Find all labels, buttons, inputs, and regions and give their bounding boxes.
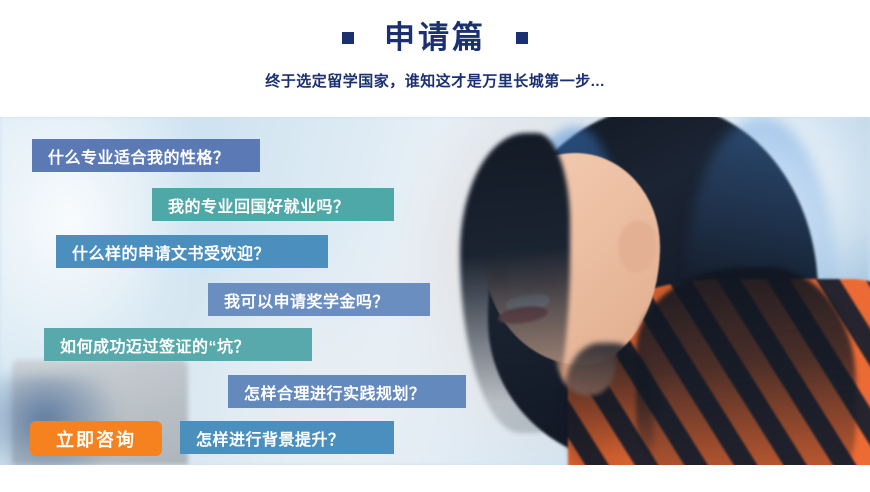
page-subtitle: 终于选定留学国家，谁知这才是万里长城第一步... bbox=[0, 70, 870, 91]
footer-spacer bbox=[0, 465, 870, 492]
hair-over-shoulder bbox=[636, 267, 856, 465]
title-row: 申请篇 bbox=[0, 22, 870, 53]
question-tag-label: 如何成功迈过签证的“坑？ bbox=[60, 333, 250, 357]
hair-strand-tip bbox=[564, 343, 654, 465]
page-title: 申请篇 bbox=[384, 22, 486, 53]
question-tag[interactable]: 什么专业适合我的性格？ bbox=[32, 139, 260, 172]
student-portrait bbox=[436, 117, 870, 465]
consult-now-button[interactable]: 立即咨询 bbox=[30, 421, 162, 456]
question-tag-label: 什么样的申请文书受欢迎？ bbox=[72, 240, 270, 264]
question-tag[interactable]: 如何成功迈过签证的“坑？ bbox=[44, 328, 312, 361]
question-tag-label: 我的专业回国好就业吗？ bbox=[168, 193, 350, 217]
header: 申请篇 终于选定留学国家，谁知这才是万里长城第一步... bbox=[0, 0, 870, 117]
question-tag-label: 我可以申请奖学金吗？ bbox=[224, 288, 389, 312]
square-bullet-icon-left bbox=[342, 32, 354, 44]
question-tag[interactable]: 我可以申请奖学金吗？ bbox=[208, 283, 430, 316]
hair-front-strands bbox=[460, 133, 570, 433]
ear bbox=[618, 221, 656, 273]
question-tag[interactable]: 怎样合理进行实践规划？ bbox=[228, 375, 466, 408]
promo-banner: 申请篇 终于选定留学国家，谁知这才是万里长城第一步... bbox=[0, 0, 870, 492]
question-tag-label: 怎样进行背景提升？ bbox=[196, 426, 345, 450]
question-tag[interactable]: 我的专业回国好就业吗？ bbox=[152, 188, 394, 221]
question-tag[interactable]: 什么样的申请文书受欢迎？ bbox=[56, 235, 328, 268]
question-tag[interactable]: 怎样进行背景提升？ bbox=[180, 421, 394, 454]
question-tag-label: 怎样合理进行实践规划？ bbox=[244, 380, 426, 404]
question-tag-label: 什么专业适合我的性格？ bbox=[48, 144, 230, 168]
square-bullet-icon-right bbox=[516, 32, 528, 44]
hero-photo: 什么专业适合我的性格？我的专业回国好就业吗？什么样的申请文书受欢迎？我可以申请奖… bbox=[0, 117, 870, 465]
